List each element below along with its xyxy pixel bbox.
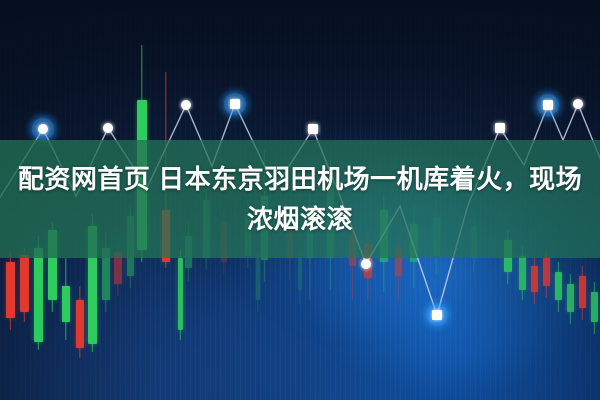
- node-square-marker: [230, 99, 240, 109]
- node-square-marker: [432, 310, 442, 320]
- node-square-marker: [308, 124, 318, 134]
- headline: 配资网首页 日本东京羽田机场一机库着火，现场 浓烟滚滚: [0, 140, 600, 258]
- news-banner: 配资网首页 日本东京羽田机场一机库着火，现场 浓烟滚滚: [0, 0, 600, 400]
- headline-line-2: 浓烟滚滚: [247, 199, 353, 239]
- node-square-marker: [543, 100, 553, 110]
- node-circle-marker: [573, 99, 583, 109]
- node-circle-marker: [38, 124, 48, 134]
- node-square-marker: [495, 123, 505, 133]
- node-circle-marker: [361, 259, 371, 269]
- node-circle-marker: [181, 100, 191, 110]
- headline-line-1: 配资网首页 日本东京羽田机场一机库着火，现场: [18, 159, 582, 199]
- node-circle-marker: [103, 123, 113, 133]
